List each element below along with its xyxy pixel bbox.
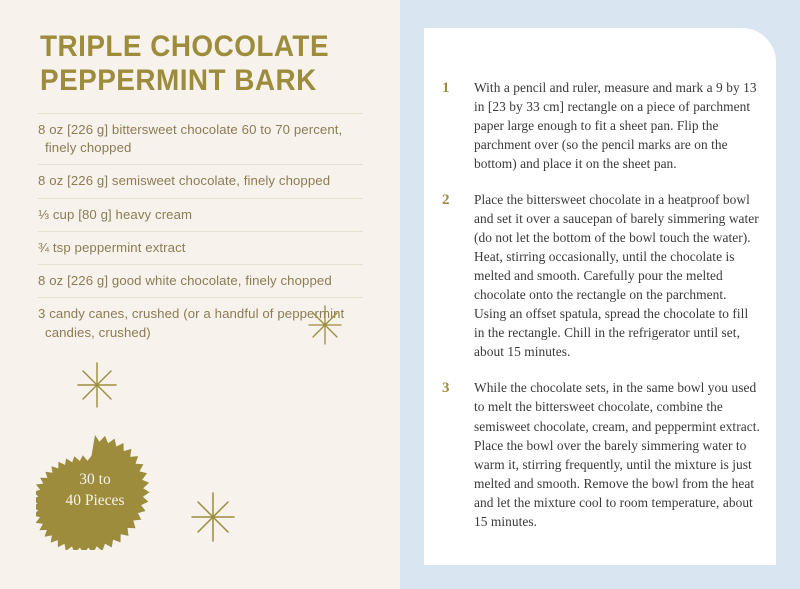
- ingredient-item: 8 oz [226 g] bittersweet chocolate 60 to…: [38, 113, 363, 164]
- ingredient-text: 8 oz [226 g] semisweet chocolate, finely…: [38, 173, 330, 188]
- yield-text: 30 to 40 Pieces: [36, 432, 154, 550]
- page-title: TRIPLE CHOCOLATE PEPPERMINT BARK: [40, 30, 347, 98]
- yield-line-2: 40 Pieces: [66, 491, 125, 512]
- yield-line-1: 30 to: [79, 470, 110, 491]
- step-text: While the chocolate sets, in the same bo…: [474, 378, 762, 530]
- step-number: 1: [442, 78, 474, 173]
- step-number: 2: [442, 190, 474, 361]
- ingredient-item: 8 oz [226 g] semisweet chocolate, finely…: [38, 164, 363, 197]
- ingredient-item: ¾ tsp peppermint extract: [38, 231, 363, 264]
- instruction-step: 3 While the chocolate sets, in the same …: [442, 378, 762, 530]
- title-line-2: PEPPERMINT BARK: [40, 64, 347, 98]
- recipe-page: TRIPLE CHOCOLATE PEPPERMINT BARK 8 oz [2…: [0, 0, 800, 589]
- star-burst-icon: [305, 305, 345, 345]
- yield-badge: 30 to 40 Pieces: [36, 432, 154, 550]
- ingredient-text: 8 oz [226 g] good white chocolate, finel…: [38, 273, 332, 288]
- ingredient-text: ¾ tsp peppermint extract: [38, 240, 186, 255]
- ingredient-text: 3 candy canes, crushed (or a handful of …: [38, 306, 344, 321]
- star-burst-icon: [188, 492, 238, 542]
- title-line-1: TRIPLE CHOCOLATE: [40, 30, 347, 64]
- ingredient-text-continued: finely chopped: [38, 139, 363, 157]
- ingredient-item: 8 oz [226 g] good white chocolate, finel…: [38, 264, 363, 297]
- ingredient-item: ⅓ cup [80 g] heavy cream: [38, 198, 363, 231]
- step-text: With a pencil and ruler, measure and mar…: [474, 78, 762, 173]
- instruction-step: 1 With a pencil and ruler, measure and m…: [442, 78, 762, 173]
- ingredient-text: 8 oz [226 g] bittersweet chocolate 60 to…: [38, 122, 342, 137]
- step-number: 3: [442, 378, 474, 530]
- ingredient-text: ⅓ cup [80 g] heavy cream: [38, 207, 192, 222]
- instructions-list: 1 With a pencil and ruler, measure and m…: [442, 78, 762, 548]
- step-text: Place the bittersweet chocolate in a hea…: [474, 190, 762, 361]
- instruction-step: 2 Place the bittersweet chocolate in a h…: [442, 190, 762, 361]
- instructions-card: 1 With a pencil and ruler, measure and m…: [424, 28, 776, 565]
- star-burst-icon: [74, 362, 120, 408]
- ingredients-panel: TRIPLE CHOCOLATE PEPPERMINT BARK 8 oz [2…: [0, 0, 400, 589]
